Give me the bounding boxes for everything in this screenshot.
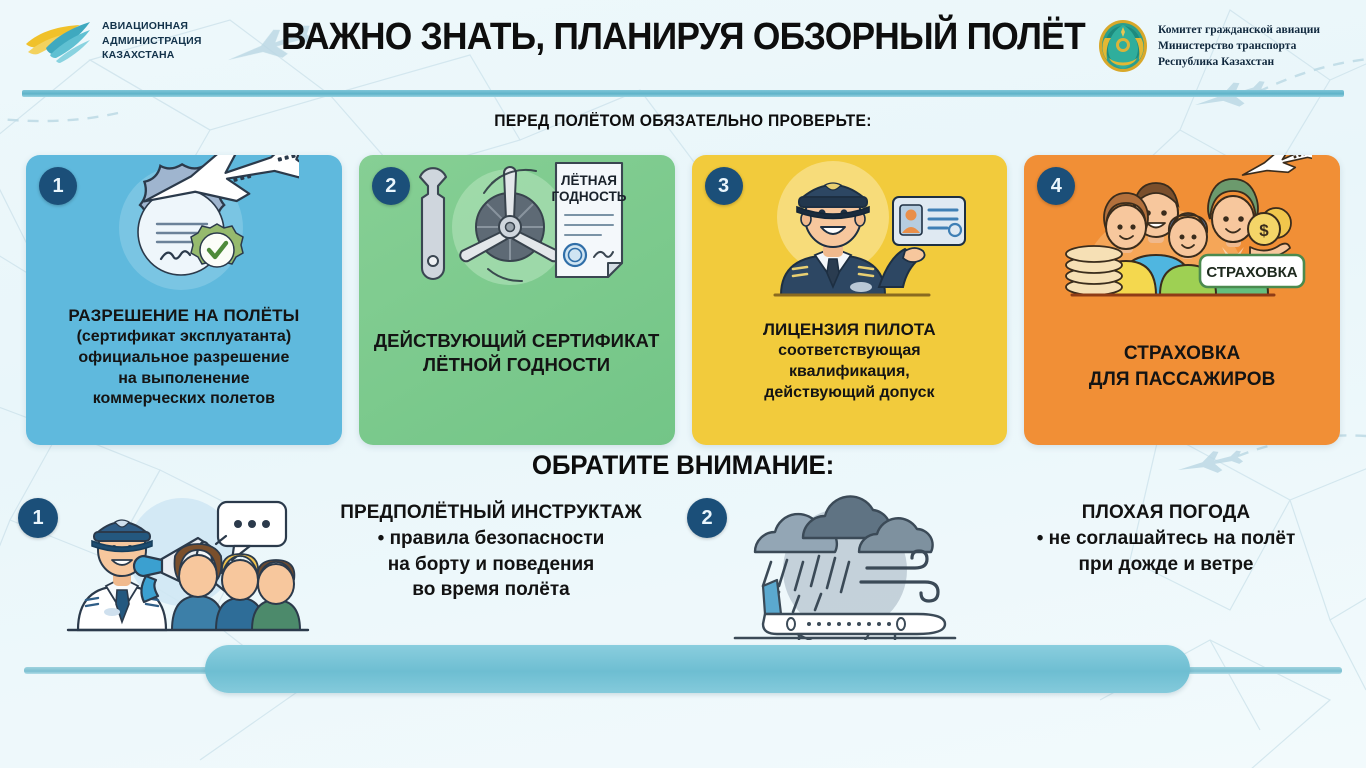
note-2-line-1-text: не соглашайтесь на полёт <box>1049 528 1296 549</box>
note-1-line-1: • правила безопасности <box>326 526 656 552</box>
card-passenger-insurance[interactable]: 4 <box>1024 155 1340 445</box>
note-1-line-2: на борту и поведения <box>326 552 656 578</box>
card-4-line-1: ДЛЯ ПАССАЖИРОВ <box>1089 367 1276 393</box>
note-1-text: ПРЕДПОЛЁТНЫЙ ИНСТРУКТАЖ • правила безопа… <box>326 490 656 603</box>
card-badge-3: 3 <box>705 167 743 205</box>
ministry-line-3: Республика Казахстан <box>1158 54 1320 70</box>
pilot-megaphone-briefing-icon <box>60 490 312 645</box>
svg-text:$: $ <box>1259 221 1269 240</box>
card-1-heading: РАЗРЕШЕНИЕ НА ПОЛЁТЫ <box>68 305 299 327</box>
note-1-heading: ПРЕДПОЛЁТНЫЙ ИНСТРУКТАЖ <box>326 500 656 526</box>
card-3-heading: ЛИЦЕНЗИЯ ПИЛОТА <box>763 319 936 341</box>
note-badge-1: 1 <box>18 498 58 538</box>
card-badge-1: 1 <box>39 167 77 205</box>
card-3-line-3: действующий допуск <box>763 383 936 404</box>
doc-label-line-1: ЛЁТНАЯ <box>561 173 617 188</box>
card-airworthiness-certificate[interactable]: 2 <box>359 155 675 445</box>
poster-header: АВИАЦИОННАЯ АДМИНИСТРАЦИЯ КАЗАХСТАНА ВАЖ… <box>0 0 1366 92</box>
card-2-text: ДЕЙСТВУЮЩИЙ СЕРТИФИКАТ ЛЁТНОЙ ГОДНОСТИ <box>366 329 668 377</box>
card-flight-permission[interactable]: 1 <box>26 155 342 445</box>
card-1-text: РАЗРЕШЕНИЕ НА ПОЛЁТЫ (сертификат эксплуа… <box>60 305 307 410</box>
card-3-line-2: квалификация, <box>763 362 936 383</box>
card-1-line-4: коммерческих полетов <box>68 389 299 410</box>
card-badge-4: 4 <box>1037 167 1075 205</box>
card-pilot-license[interactable]: 3 <box>692 155 1008 445</box>
card-1-line-2: официальное разрешение <box>68 348 299 369</box>
card-2-line-1: ЛЁТНОЙ ГОДНОСТИ <box>374 353 660 377</box>
note-2-line-2: при дожде и ветре <box>1011 552 1321 578</box>
note-2-bullet: • <box>1037 528 1044 549</box>
attention-heading: ОБРАТИТЕ ВНИМАНИЕ: <box>27 450 1338 481</box>
ministry-line-1: Комитет гражданской авиации <box>1158 22 1320 38</box>
note-2-text: ПЛОХАЯ ПОГОДА • не соглашайтесь на полёт… <box>1011 490 1321 577</box>
note-2-heading: ПЛОХАЯ ПОГОДА <box>1011 500 1321 526</box>
section-subtitle: ПЕРЕД ПОЛЁТОМ ОБЯЗАТЕЛЬНО ПРОВЕРЬТЕ: <box>34 112 1332 131</box>
storm-clouds-airplane-icon <box>729 490 959 645</box>
note-1-line-1-text: правила безопасности <box>390 528 605 549</box>
note-preflight-briefing[interactable]: 1 <box>0 490 683 645</box>
footer-bar <box>205 645 1190 693</box>
ministry-logo: Комитет гражданской авиации Министерство… <box>1097 18 1320 74</box>
note-badge-2: 2 <box>687 498 727 538</box>
note-2-line-1: • не соглашайтесь на полёт <box>1011 526 1321 552</box>
card-badge-2: 2 <box>372 167 410 205</box>
attention-notes: 1 <box>0 490 1366 645</box>
card-1-line-1: (сертификат эксплуатанта) <box>68 327 299 348</box>
note-1-bullet: • <box>378 528 385 549</box>
card-2-heading: ДЕЙСТВУЮЩИЙ СЕРТИФИКАТ <box>374 329 660 353</box>
card-3-text: ЛИЦЕНЗИЯ ПИЛОТА соответствующая квалифик… <box>755 319 944 403</box>
infographic-poster: АВИАЦИОННАЯ АДМИНИСТРАЦИЯ КАЗАХСТАНА ВАЖ… <box>0 0 1366 768</box>
card-4-heading: СТРАХОВКА <box>1089 341 1276 367</box>
card-1-line-3: на выполенение <box>68 369 299 390</box>
note-1-line-3: во время полёта <box>326 577 656 603</box>
note-bad-weather[interactable]: 2 <box>683 490 1366 645</box>
kazakhstan-emblem-icon <box>1097 18 1149 74</box>
ministry-logo-text: Комитет гражданской авиации Министерство… <box>1158 22 1320 71</box>
doc-label-line-2: ГОДНОСТЬ <box>551 189 626 204</box>
card-4-text: СТРАХОВКА ДЛЯ ПАССАЖИРОВ <box>1081 341 1284 392</box>
checklist-cards: 1 <box>26 155 1340 445</box>
insurance-sign-label: СТРАХОВКА <box>1207 264 1298 281</box>
ministry-line-2: Министерство транспорта <box>1158 38 1320 54</box>
card-3-line-1: соответствующая <box>763 341 936 362</box>
